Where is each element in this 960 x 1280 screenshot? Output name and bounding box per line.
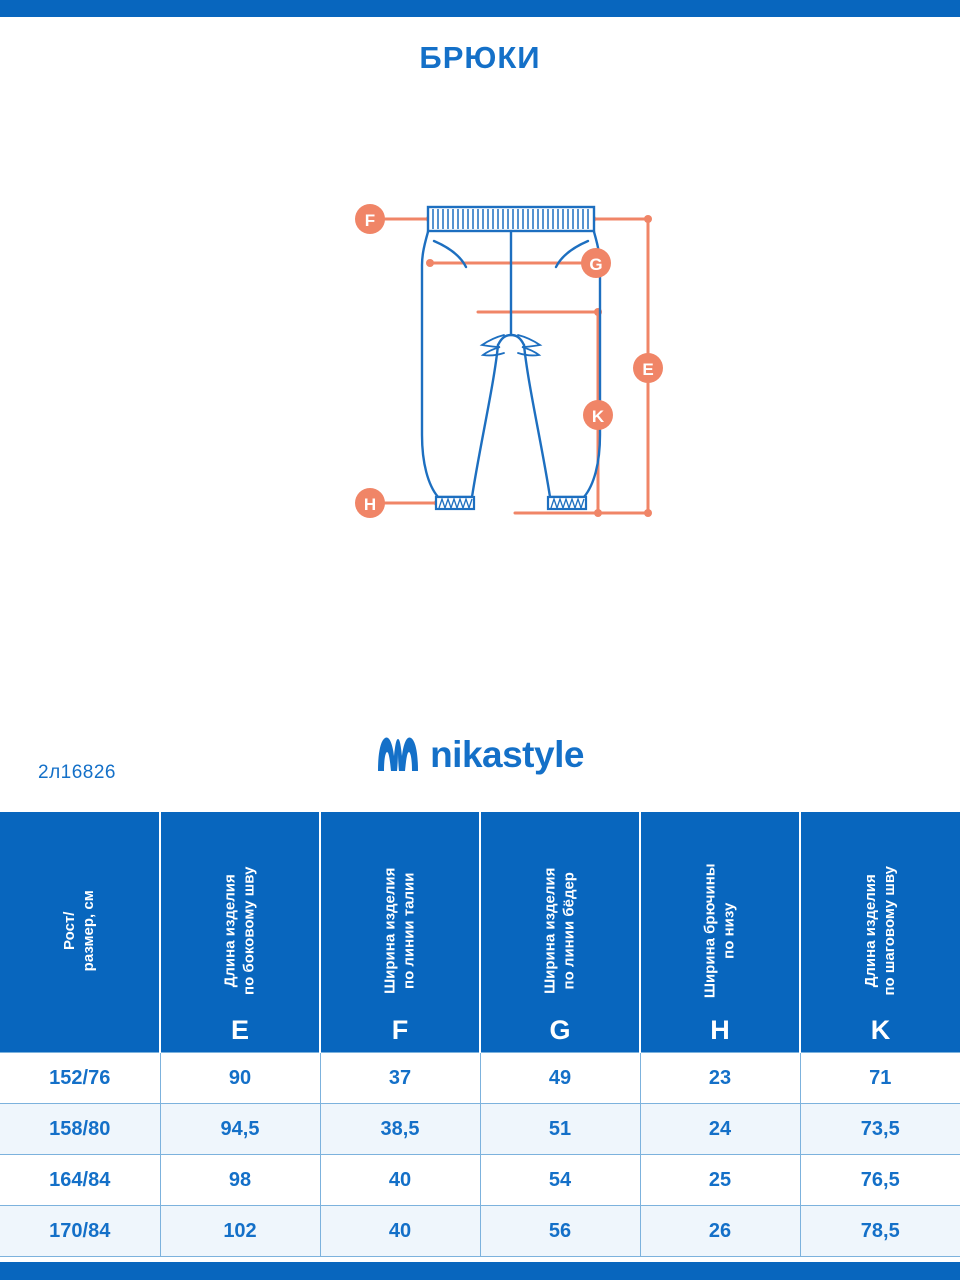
marker-badge-K: K	[583, 400, 613, 430]
cell-size: 152/76	[0, 1053, 160, 1104]
bottom-accent-bar	[0, 1262, 960, 1280]
marker-badge-H: H	[355, 488, 385, 518]
header-line-1: Рост/	[61, 912, 78, 950]
column-header-k: Длина изделия по шаговому шву K	[800, 812, 960, 1053]
cell-h: 23	[640, 1053, 800, 1104]
cell-e: 90	[160, 1053, 320, 1104]
cell-h: 25	[640, 1155, 800, 1206]
cell-k: 71	[800, 1053, 960, 1104]
column-header-g: Ширина изделия по линии бёдер G	[480, 812, 640, 1053]
page-title: БРЮКИ	[0, 40, 960, 76]
cell-g: 56	[480, 1206, 640, 1257]
cell-e: 98	[160, 1155, 320, 1206]
cell-f: 38,5	[320, 1104, 480, 1155]
cell-h: 24	[640, 1104, 800, 1155]
header-line-1: Длина изделия	[221, 874, 238, 987]
header-line-2: по шаговому шву	[880, 866, 897, 996]
table-row: 170/84 102 40 56 26 78,5	[0, 1206, 960, 1257]
svg-text:H: H	[364, 495, 376, 514]
cell-e: 102	[160, 1206, 320, 1257]
cell-k: 78,5	[800, 1206, 960, 1257]
cell-g: 49	[480, 1053, 640, 1104]
header-line-2: по линии талии	[400, 873, 417, 989]
nikastyle-mark-icon	[376, 735, 420, 773]
header-line-2: по линии бёдер	[560, 872, 577, 989]
cell-f: 37	[320, 1053, 480, 1104]
table-header-row: Рост/ размер, см . Длина изделия по боко…	[0, 812, 960, 1053]
header-line-1: Ширина изделия	[541, 868, 558, 994]
header-line-2: размер, см	[80, 890, 97, 971]
header-line-2: по низу	[720, 903, 737, 959]
cell-size: 170/84	[0, 1206, 160, 1257]
cell-f: 40	[320, 1206, 480, 1257]
header-line-2: по боковому шву	[240, 867, 257, 995]
marker-badge-E: E	[633, 353, 663, 383]
cell-e: 94,5	[160, 1104, 320, 1155]
cell-size: 158/80	[0, 1104, 160, 1155]
top-accent-bar	[0, 0, 960, 17]
svg-text:E: E	[642, 360, 653, 379]
brand-name: nikastyle	[430, 736, 584, 773]
cell-k: 73,5	[800, 1104, 960, 1155]
column-header-e: Длина изделия по боковому шву E	[160, 812, 320, 1053]
column-header-h: Ширина брючины по низу H	[640, 812, 800, 1053]
column-letter: K	[871, 1017, 891, 1044]
column-letter: G	[549, 1017, 570, 1044]
cell-h: 26	[640, 1206, 800, 1257]
header-line-1: Ширина изделия	[381, 868, 398, 994]
cell-size: 164/84	[0, 1155, 160, 1206]
header-line-1: Ширина брючины	[701, 864, 718, 999]
size-chart-table: Рост/ размер, см . Длина изделия по боко…	[0, 812, 960, 1257]
table-row: 158/80 94,5 38,5 51 24 73,5	[0, 1104, 960, 1155]
svg-text:F: F	[365, 211, 375, 230]
table-row: 152/76 90 37 49 23 71	[0, 1053, 960, 1104]
column-letter: H	[710, 1017, 730, 1044]
column-letter: F	[392, 1017, 409, 1044]
table-row: 164/84 98 40 54 25 76,5	[0, 1155, 960, 1206]
cell-g: 54	[480, 1155, 640, 1206]
marker-badge-G: G	[581, 248, 611, 278]
cell-g: 51	[480, 1104, 640, 1155]
cell-k: 76,5	[800, 1155, 960, 1206]
svg-text:G: G	[589, 255, 602, 274]
column-header-f: Ширина изделия по линии талии F	[320, 812, 480, 1053]
header-line-1: Длина изделия	[862, 874, 879, 987]
svg-text:K: K	[592, 407, 605, 426]
brand-logo: nikastyle	[0, 735, 960, 773]
pants-technical-drawing: F G E K H	[330, 185, 680, 530]
column-letter: E	[231, 1017, 249, 1044]
column-header-size: Рост/ размер, см .	[0, 812, 160, 1053]
cell-f: 40	[320, 1155, 480, 1206]
marker-badge-F: F	[355, 204, 385, 234]
